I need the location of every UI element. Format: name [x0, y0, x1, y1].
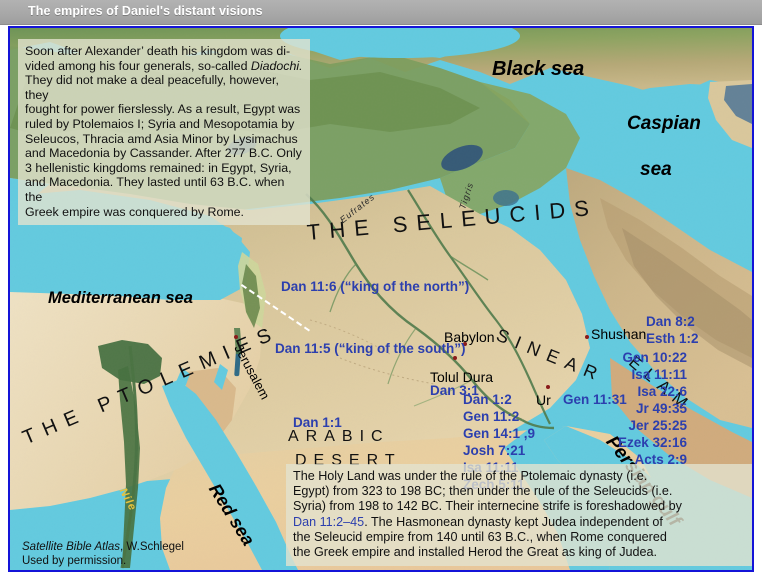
- reference-elam-gen-10-22[interactable]: Gen 10:22: [622, 350, 687, 365]
- note-italic-diadochi: Diadochi.: [251, 59, 303, 73]
- screenshot-root: The empires of Daniel's distant visions: [0, 0, 762, 580]
- note-line-6: Seleucos, Thracia amd Asia Minor by Lysi…: [25, 132, 303, 147]
- city-dot-shushan: [585, 335, 589, 339]
- map-canvas[interactable]: Black sea Caspian sea Mediterranean sea …: [10, 28, 752, 570]
- reference-elam-ezek-32-16[interactable]: Ezek 32:16: [618, 435, 687, 450]
- note-line-10: Greek empire was conquered by Rome.: [25, 205, 303, 220]
- city-label-ur: Ur: [536, 392, 551, 408]
- window-title-bar: The empires of Daniel's distant visions: [0, 0, 762, 25]
- credit-block: Satellite Bible Atlas, W.Schlegel Used b…: [22, 540, 184, 568]
- note-line-7: and Macedonia by Cassander. After 277 B.…: [25, 146, 303, 161]
- sea-label-mediterranean-sea: Mediterranean sea: [48, 289, 193, 308]
- holy-land-line-5: the Seleucid empire from 140 until 63 B.…: [293, 530, 745, 545]
- note-box-diadochi: Soon after Alexander’ death his kingdom …: [18, 39, 310, 225]
- note-line-5: ruled by Ptolemaios I; Syria and Mesopot…: [25, 117, 303, 132]
- sea-label-black-sea: Black sea: [492, 58, 584, 81]
- reference-shushan-dan-8-2[interactable]: Dan 8:2: [646, 314, 695, 329]
- reference-king-of-the-north[interactable]: Dan 11:6 (“king of the north”): [281, 279, 469, 294]
- credit-atlas-title: Satellite Bible Atlas: [22, 541, 120, 553]
- reference-elam-jer-25-25[interactable]: Jer 25:25: [628, 418, 687, 433]
- note-line-1: Soon after Alexander’ death his kingdom …: [25, 44, 303, 59]
- credit-author: , W.Schlegel: [120, 541, 184, 553]
- sea-label-caspian-sea: Caspian: [627, 113, 701, 135]
- holy-land-line-6: the Greek empire and installed Herod the…: [293, 545, 745, 560]
- region-label-arabic-desert-line1: ARABIC: [288, 428, 390, 446]
- note-line-9: and Macedonia. They lasted until 63 B.C.…: [25, 175, 303, 204]
- city-dot-ur: [546, 385, 550, 389]
- reference-babylon-gen-11-2[interactable]: Gen 11:2: [463, 409, 519, 424]
- note-line-2: vided among his four generals, so-called…: [25, 59, 303, 74]
- reference-ur[interactable]: Gen 11:31: [563, 392, 627, 407]
- reference-elam-jr-49-35[interactable]: Jr 49:35: [636, 401, 687, 416]
- note-line-8: 3 hellenistic kingdoms remained: in Egyp…: [25, 161, 303, 176]
- credit-line-1: Satellite Bible Atlas, W.Schlegel: [22, 540, 184, 554]
- reference-elam-isa-11-11[interactable]: Isa 11:11: [631, 367, 687, 382]
- note-box-holy-land: The Holy Land was under the rule of the …: [286, 464, 752, 566]
- reference-dan-11-2-45[interactable]: Dan 11:2–45: [293, 515, 364, 529]
- reference-babylon-josh-7-21[interactable]: Josh 7:21: [463, 443, 525, 458]
- reference-babylon-gen-14-1-9[interactable]: Gen 14:1 ,9: [463, 426, 535, 441]
- reference-egypt-dan-1-1[interactable]: Dan 1:1: [293, 415, 342, 430]
- holy-land-line-2: Egypt) from 323 to 198 BC; then under th…: [293, 484, 745, 499]
- city-label-shushan: Shushan: [591, 326, 646, 342]
- city-dot-babylon-2: [453, 356, 457, 360]
- credit-line-2: Used by permission.: [22, 554, 184, 568]
- reference-elam-isa-22-6[interactable]: Isa 22:6: [637, 384, 687, 399]
- reference-king-of-the-south[interactable]: Dan 11:5 (“king of the south”): [275, 341, 466, 356]
- city-dot-jerusalem: [234, 335, 238, 339]
- reference-babylon-dan-1-2[interactable]: Dan 1:2: [463, 392, 512, 407]
- reference-shushan-esth-1-2[interactable]: Esth 1:2: [646, 331, 699, 346]
- sea-label-caspian-sea-line2: sea: [640, 159, 672, 181]
- holy-land-line-3: Syria) from 198 to 142 BC. Their interne…: [293, 499, 745, 514]
- map-frame: Black sea Caspian sea Mediterranean sea …: [8, 26, 754, 572]
- note-line-4: fought for power fierslessly. As a resul…: [25, 102, 303, 117]
- note-line-3: They did not make a deal peacefully, how…: [25, 73, 303, 102]
- holy-land-line-1: The Holy Land was under the rule of the …: [293, 469, 745, 484]
- window-title: The empires of Daniel's distant visions: [28, 4, 263, 18]
- holy-land-line-4: Dan 11:2–45. The Hasmonean dynasty kept …: [293, 515, 745, 530]
